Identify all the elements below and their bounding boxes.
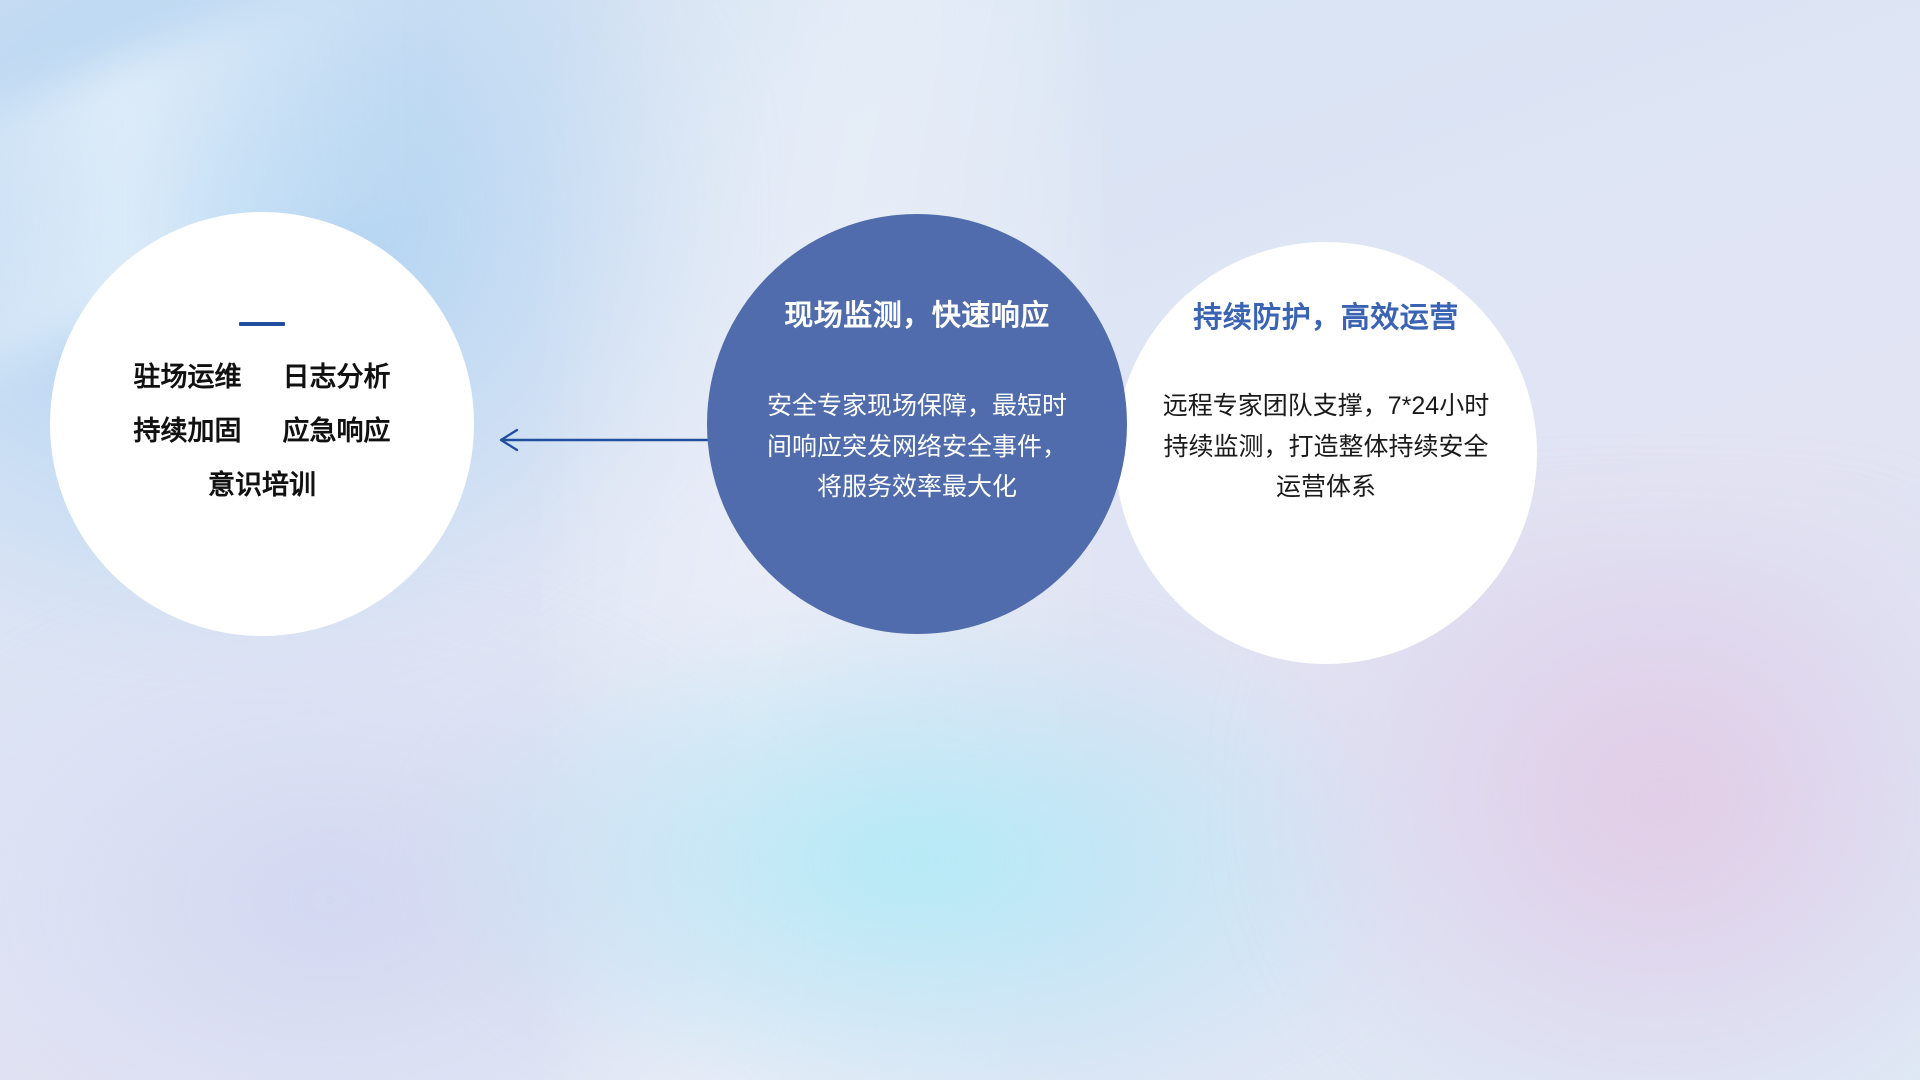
background-glow-lavender — [0, 620, 760, 1080]
onsite-monitoring-title: 现场监测，快速响应 — [784, 292, 1050, 334]
capability-item-log-analysis: 日志分析 — [283, 362, 391, 392]
slide-canvas: 驻场运维 日志分析 持续加固 应急响应 意识培训 现场监测，快速响应 安全专家现… — [0, 0, 1920, 1080]
capability-item-emergency-response: 应急响应 — [283, 416, 391, 446]
background-glow-cyan — [420, 600, 1420, 1080]
capability-item-continuous-hardening: 持续加固 — [133, 416, 241, 446]
continuous-protection-title: 持续防护，高效运营 — [1193, 294, 1459, 336]
onsite-monitoring-circle: 现场监测，快速响应 安全专家现场保障，最短时间响应突发网络安全事件，将服务效率最… — [707, 214, 1127, 634]
capability-item-awareness-training: 意识培训 — [208, 470, 316, 500]
continuous-protection-circle: 持续防护，高效运营 远程专家团队支撑，7*24小时持续监测，打造整体持续安全运营… — [1115, 242, 1537, 664]
divider-dash-icon — [239, 322, 285, 326]
left-arrow-connector — [495, 420, 715, 460]
capability-row-2: 持续加固 应急响应 — [133, 418, 390, 445]
capability-item-onsite-ops: 驻场运维 — [133, 362, 241, 392]
capability-row-3: 意识培训 — [133, 472, 390, 499]
capability-row-1: 驻场运维 日志分析 — [133, 364, 390, 391]
left-capability-circle: 驻场运维 日志分析 持续加固 应急响应 意识培训 — [50, 212, 474, 636]
onsite-monitoring-body: 安全专家现场保障，最短时间响应突发网络安全事件，将服务效率最大化 — [767, 386, 1067, 508]
continuous-protection-body: 远程专家团队支撑，7*24小时持续监测，打造整体持续安全运营体系 — [1158, 386, 1494, 508]
left-circle-text-block: 驻场运维 日志分析 持续加固 应急响应 意识培训 — [133, 364, 390, 499]
